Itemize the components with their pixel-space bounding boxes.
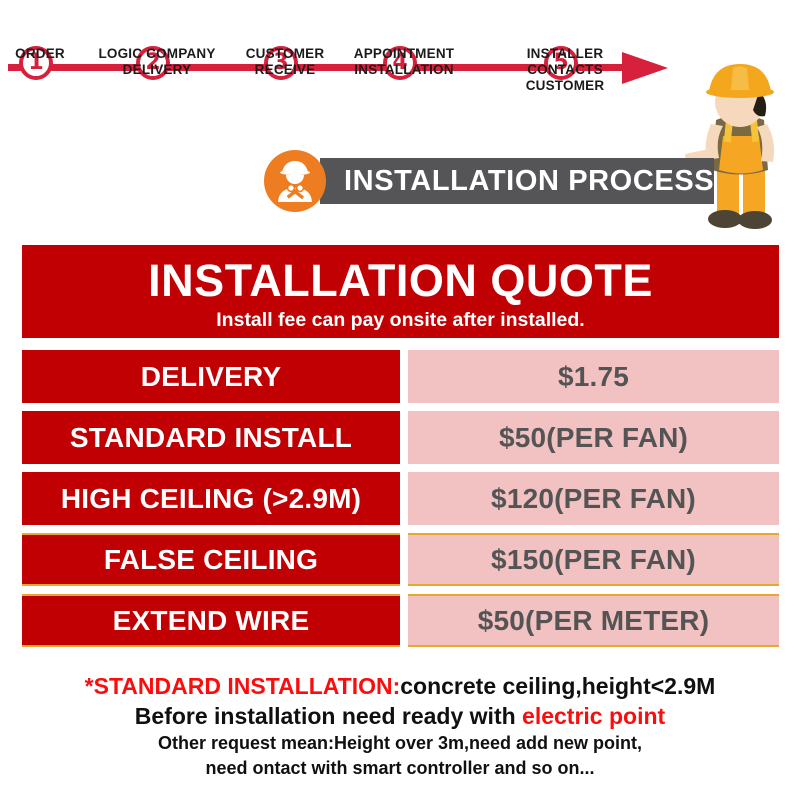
footer-notes: *STANDARD INSTALLATION:concrete ceiling,… — [0, 672, 800, 781]
note-electric-point-highlight: electric point — [522, 703, 665, 729]
process-step-label-1: ORDER — [15, 46, 65, 62]
price-value: $120(PER FAN) — [408, 472, 779, 525]
cell-gap — [400, 350, 408, 403]
price-value: $50(PER METER) — [408, 594, 779, 647]
note-standard-detail: concrete ceiling,height<2.9M — [400, 673, 715, 699]
table-row: HIGH CEILING (>2.9M) $120(PER FAN) — [22, 472, 779, 525]
cell-gap — [400, 472, 408, 525]
price-table: DELIVERY $1.75 STANDARD INSTALL $50(PER … — [22, 350, 779, 655]
quote-subtitle: Install fee can pay onsite after install… — [22, 307, 779, 333]
note-other-request-line1: Other request mean:Height over 3m,need a… — [0, 731, 800, 756]
price-label: DELIVERY — [22, 350, 400, 403]
banner-title: INSTALLATION PROCESS — [344, 158, 724, 204]
price-label: FALSE CEILING — [22, 533, 400, 586]
process-step-label-3: CUSTOMER RECEIVE — [246, 46, 325, 78]
worker-helmet-tools-icon — [264, 150, 326, 212]
cell-gap — [400, 533, 408, 586]
process-step-label-2: LOGIC COMPANY DELIVERY — [98, 46, 215, 78]
table-row: FALSE CEILING $150(PER FAN) — [22, 533, 779, 586]
quote-header: INSTALLATION QUOTE Install fee can pay o… — [22, 245, 779, 338]
page-title: INSTALLATION QUOTE — [22, 245, 779, 307]
table-row: DELIVERY $1.75 — [22, 350, 779, 403]
note-other-request-line2: need ontact with smart controller and so… — [0, 756, 800, 781]
note-electric-point: Before installation need ready with elec… — [0, 701, 800, 731]
price-label: EXTEND WIRE — [22, 594, 400, 647]
price-value: $1.75 — [408, 350, 779, 403]
process-flow: 1 ORDER 2 LOGIC COMPANY DELIVERY 3 CUSTO… — [0, 0, 680, 135]
cell-gap — [400, 594, 408, 647]
note-standard-installation: *STANDARD INSTALLATION:concrete ceiling,… — [0, 672, 800, 701]
note-standard-label: *STANDARD INSTALLATION: — [85, 673, 401, 699]
table-row: STANDARD INSTALL $50(PER FAN) — [22, 411, 779, 464]
process-step-label-5: INSTALLER CONTACTS CUSTOMER — [508, 46, 623, 94]
installation-process-banner: INSTALLATION PROCESS — [264, 150, 714, 212]
flow-arrow-icon — [622, 52, 668, 84]
process-step-label-4: APPOINTMENT INSTALLATION — [354, 46, 454, 78]
note-before-install-text: Before installation need ready with — [135, 703, 522, 729]
price-label: STANDARD INSTALL — [22, 411, 400, 464]
cell-gap — [400, 411, 408, 464]
price-value: $150(PER FAN) — [408, 533, 779, 586]
price-value: $50(PER FAN) — [408, 411, 779, 464]
table-row: EXTEND WIRE $50(PER METER) — [22, 594, 779, 647]
price-label: HIGH CEILING (>2.9M) — [22, 472, 400, 525]
